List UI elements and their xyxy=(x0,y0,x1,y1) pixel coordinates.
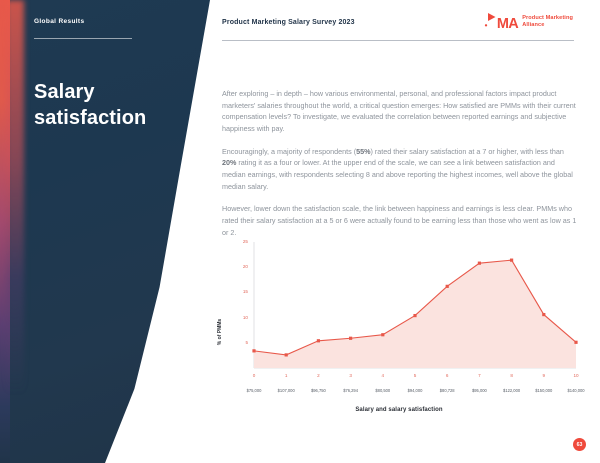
chart-data-point xyxy=(446,285,449,288)
chart-data-point xyxy=(285,353,288,356)
chart-x-tick: 7 xyxy=(471,373,487,378)
chart-salary-label: $122,000 xyxy=(496,388,528,393)
chart-salary-label: $80,728 xyxy=(431,388,463,393)
page-number-badge: 63 xyxy=(573,438,586,451)
paragraph-1: After exploring – in depth – how various… xyxy=(222,88,578,135)
p2-part-a: Encouragingly, a majority of respondents… xyxy=(222,147,356,156)
chart-x-tick: 6 xyxy=(439,373,455,378)
chart-salary-label: $95,000 xyxy=(463,388,495,393)
chart-x-tick: 0 xyxy=(246,373,262,378)
pma-logo-mark: • MA xyxy=(485,13,519,32)
logo-flag-icon xyxy=(487,13,496,28)
chart-y-tick: 20 xyxy=(234,264,248,269)
p2-part-d: rating it as a four or lower. At the upp… xyxy=(222,158,573,190)
chart-data-point xyxy=(542,313,545,316)
chart-plot-area xyxy=(218,240,580,390)
chart-salary-label: $94,000 xyxy=(399,388,431,393)
p2-part-c: ) rated their salary satisfaction at a 7… xyxy=(371,147,564,156)
logo-text-line2: Alliance xyxy=(522,22,544,28)
chart-data-point xyxy=(478,262,481,265)
chart-salary-label: $140,000 xyxy=(560,388,592,393)
chart-x-tick: 3 xyxy=(343,373,359,378)
p2-stat-2: 20% xyxy=(222,158,236,167)
chart-salary-label: $150,000 xyxy=(528,388,560,393)
chart-salary-label: $107,000 xyxy=(270,388,302,393)
pma-logo: • MA Product Marketing Alliance xyxy=(485,13,573,32)
chart-x-axis-title: Salary and salary satisfaction xyxy=(218,407,580,413)
pma-logo-text: Product Marketing Alliance xyxy=(522,15,573,30)
body-copy: After exploring – in depth – how various… xyxy=(222,88,578,249)
chart-y-tick: 5 xyxy=(234,340,248,345)
section-tag: Global Results xyxy=(34,18,84,25)
left-title-panel xyxy=(0,0,210,463)
chart-x-tick: 1 xyxy=(278,373,294,378)
chart-data-point xyxy=(349,337,352,340)
chart-x-tick: 10 xyxy=(568,373,584,378)
left-gradient-accent-glow xyxy=(6,0,24,463)
chart-x-tick: 2 xyxy=(310,373,326,378)
page-title: Salary satisfaction xyxy=(34,80,204,131)
chart-data-point xyxy=(252,349,255,352)
chart-x-tick: 4 xyxy=(375,373,391,378)
chart-x-tick: 8 xyxy=(504,373,520,378)
chart-salary-label: $76,294 xyxy=(335,388,367,393)
chart-x-tick: 5 xyxy=(407,373,423,378)
chart-data-point xyxy=(574,341,577,344)
document-title: Product Marketing Salary Survey 2023 xyxy=(222,19,355,26)
header-divider xyxy=(222,40,574,41)
chart-salary-label: $80,500 xyxy=(367,388,399,393)
chart-data-point xyxy=(413,314,416,317)
chart-data-point xyxy=(381,333,384,336)
chart-y-tick: 10 xyxy=(234,315,248,320)
chart-data-point xyxy=(510,259,513,262)
paragraph-3: However, lower down the satisfaction sca… xyxy=(222,203,578,238)
logo-mark-letters: MA xyxy=(497,17,518,32)
slide-canvas: Global Results Salary satisfaction Produ… xyxy=(0,0,600,463)
chart-x-tick: 9 xyxy=(536,373,552,378)
chart-data-point xyxy=(317,339,320,342)
chart-y-tick: 25 xyxy=(234,239,248,244)
chart-salary-label: $96,750 xyxy=(302,388,334,393)
p2-stat-1: 55% xyxy=(356,147,370,156)
section-tag-rule xyxy=(34,38,132,39)
logo-text-line1: Product Marketing xyxy=(522,15,573,21)
paragraph-2: Encouragingly, a majority of respondents… xyxy=(222,146,578,193)
chart-salary-label: $75,000 xyxy=(238,388,270,393)
chart-y-tick: 15 xyxy=(234,289,248,294)
salary-satisfaction-chart: % of PMMs 510152025 012345678910 $75,000… xyxy=(218,240,580,425)
